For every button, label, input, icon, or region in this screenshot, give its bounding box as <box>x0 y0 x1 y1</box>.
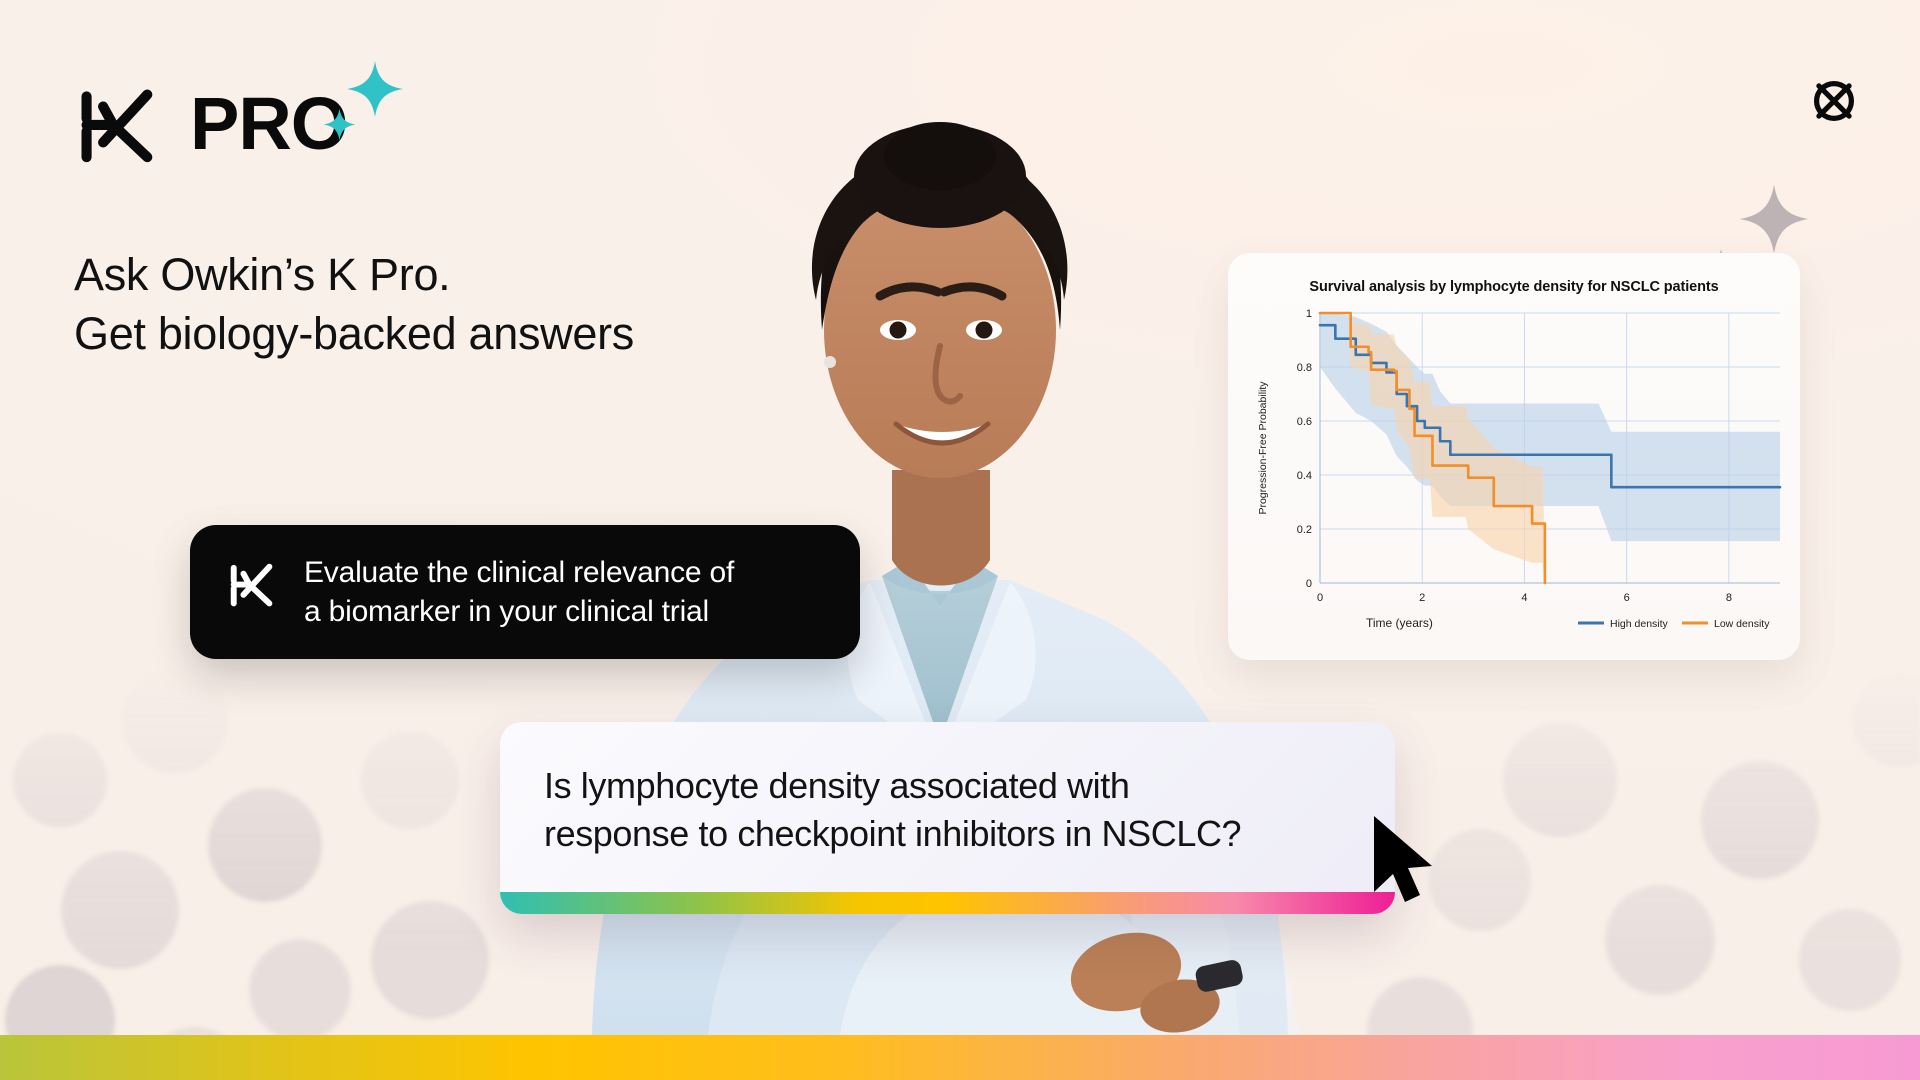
svg-text:0.8: 0.8 <box>1297 362 1312 374</box>
svg-text:8: 8 <box>1726 592 1732 604</box>
question-line-1: Is lymphocyte density associated with <box>544 762 1351 810</box>
headline-line-2: Get biology-backed answers <box>74 304 634 363</box>
prompt-line-1: Evaluate the clinical relevance of <box>304 553 734 592</box>
suggested-prompt-card[interactable]: Evaluate the clinical relevance of a bio… <box>190 525 860 659</box>
user-question-card[interactable]: Is lymphocyte density associated with re… <box>500 722 1395 914</box>
svg-text:0: 0 <box>1317 592 1323 604</box>
headline-line-1: Ask Owkin’s K Pro. <box>74 245 634 304</box>
question-card-gradient-underline <box>500 892 1395 914</box>
mouse-pointer-icon <box>1368 812 1440 908</box>
k-logo-icon <box>70 78 162 170</box>
svg-text:Progression-Free Probability: Progression-Free Probability <box>1257 381 1269 515</box>
svg-text:0.4: 0.4 <box>1297 470 1312 482</box>
bottom-gradient-bar <box>0 1035 1920 1080</box>
prompt-card-text: Evaluate the clinical relevance of a bio… <box>304 553 734 631</box>
svg-text:0.2: 0.2 <box>1297 524 1312 536</box>
svg-text:4: 4 <box>1521 592 1527 604</box>
svg-text:Low density: Low density <box>1714 618 1770 630</box>
svg-text:0: 0 <box>1306 578 1312 590</box>
question-card-text: Is lymphocyte density associated with re… <box>500 722 1395 892</box>
svg-text:2: 2 <box>1419 592 1425 604</box>
svg-text:0.6: 0.6 <box>1297 416 1312 428</box>
svg-text:1: 1 <box>1306 308 1312 320</box>
k-logo-icon <box>224 557 278 611</box>
owkin-crosshair-icon[interactable] <box>1805 72 1863 130</box>
page-title: Ask Owkin’s K Pro. Get biology-backed an… <box>74 245 634 364</box>
svg-text:6: 6 <box>1624 592 1630 604</box>
survival-chart-card[interactable]: Survival analysis by lymphocyte density … <box>1228 253 1800 660</box>
svg-text:High density: High density <box>1610 618 1669 630</box>
brand-lockup: PRO <box>70 78 347 170</box>
question-line-2: response to checkpoint inhibitors in NSC… <box>544 810 1351 858</box>
sparkle-icon <box>1738 183 1810 260</box>
prompt-line-2: a biomarker in your clinical trial <box>304 592 734 631</box>
svg-text:Time (years): Time (years) <box>1366 616 1433 630</box>
sparkle-icon <box>323 108 356 146</box>
survival-chart: 0246800.20.40.60.81Time (years)Progressi… <box>1228 253 1800 660</box>
